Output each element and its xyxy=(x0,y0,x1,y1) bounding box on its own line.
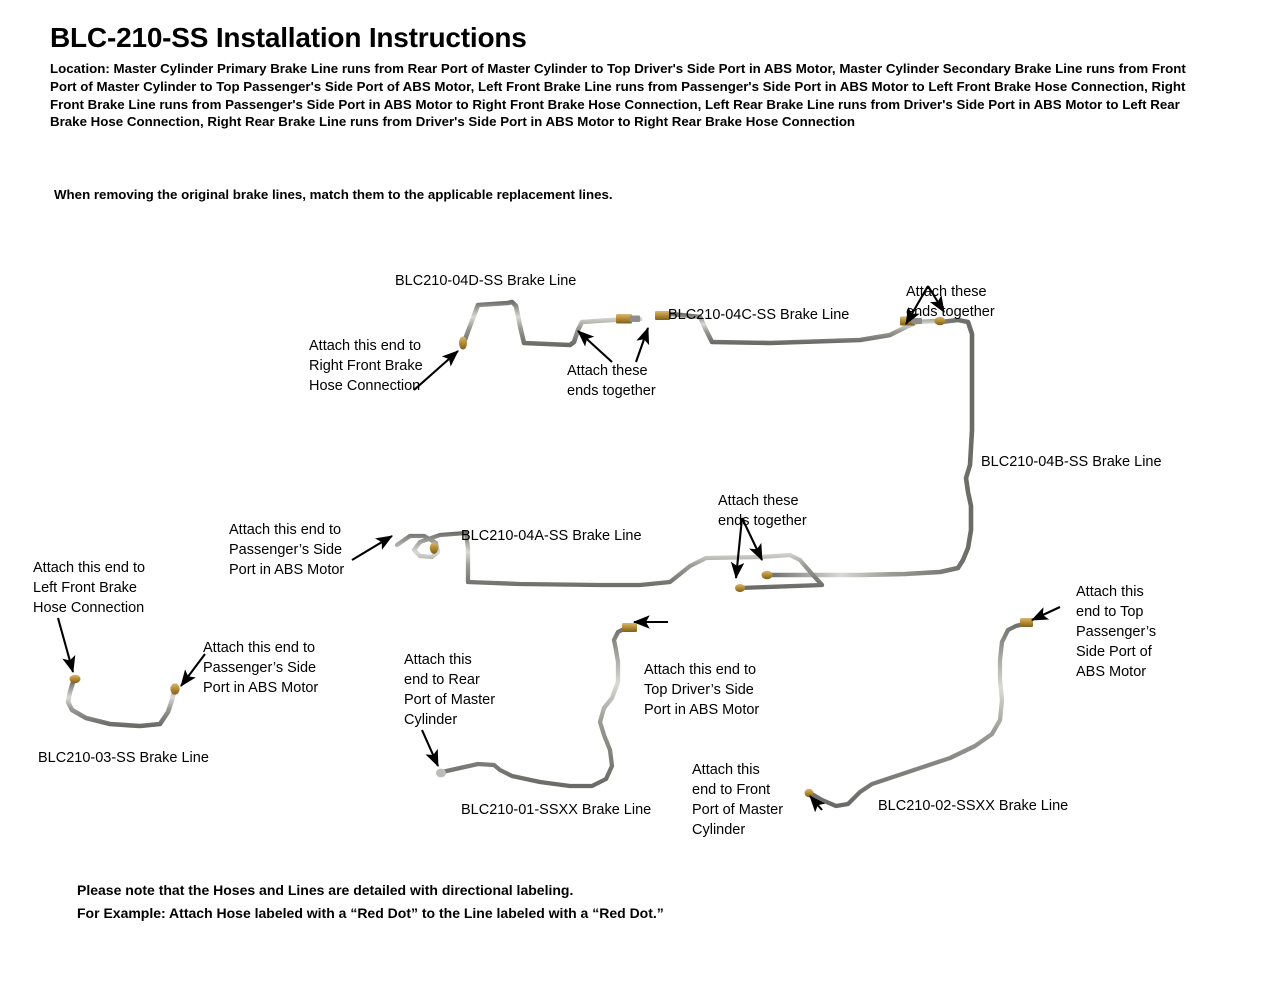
callout-rear-port-master: Attach this end to Rear Port of Master C… xyxy=(404,650,495,730)
fitting-brass xyxy=(1020,618,1033,627)
arrow-ends-top-b xyxy=(636,328,648,362)
fitting-brass xyxy=(459,337,467,350)
brake-line-04b-shape xyxy=(762,317,973,580)
callout-arrows xyxy=(58,286,1060,810)
fitting-brass xyxy=(170,683,179,694)
brake-line-03-shape xyxy=(68,675,180,726)
arrow-top-passenger-port xyxy=(1032,607,1060,620)
part-label-02: BLC210-02-SSXX Brake Line xyxy=(878,796,1068,816)
arrow-passenger-port-04a xyxy=(352,536,392,560)
fitting-brass xyxy=(430,542,438,554)
brake-line-drawing xyxy=(0,230,1280,870)
footer-line-1: Please note that the Hoses and Lines are… xyxy=(77,879,664,902)
callout-front-port-master: Attach this end to Front Port of Master … xyxy=(692,760,783,840)
fitting-brass xyxy=(616,314,632,324)
part-label-04b: BLC210-04B-SS Brake Line xyxy=(981,452,1162,472)
brake-line-04d-shape xyxy=(459,302,640,350)
arrow-rear-port-master xyxy=(422,730,438,766)
location-paragraph: Location: Master Cylinder Primary Brake … xyxy=(50,60,1210,131)
part-label-01: BLC210-01-SSXX Brake Line xyxy=(461,800,651,820)
part-label-04c: BLC210-04C-SS Brake Line xyxy=(668,305,849,325)
callout-passenger-side-port-04a: Attach this end to Passenger’s Side Port… xyxy=(229,520,344,580)
removal-note: When removing the original brake lines, … xyxy=(54,186,613,204)
callout-ends-together-top-mid: Attach these ends together xyxy=(567,361,656,401)
page-title: BLC-210-SS Installation Instructions xyxy=(50,22,1230,54)
part-label-04d: BLC210-04D-SS Brake Line xyxy=(395,271,576,291)
fitting-silver xyxy=(436,769,446,778)
fitting-brass xyxy=(735,584,745,592)
arrow-ends-top-a xyxy=(578,331,612,362)
arrow-passenger-port-03 xyxy=(181,654,205,686)
brake-line-diagram: BLC210-04D-SS Brake Line BLC210-04C-SS B… xyxy=(0,230,1280,870)
part-label-03: BLC210-03-SS Brake Line xyxy=(38,748,209,768)
part-label-04a: BLC210-04A-SS Brake Line xyxy=(461,526,642,546)
callout-top-drivers-side-port: Attach this end to Top Driver’s Side Por… xyxy=(644,660,759,720)
callout-ends-together-top-right: Attach these ends together xyxy=(906,282,995,322)
callout-left-front-hose: Attach this end to Left Front Brake Hose… xyxy=(33,558,145,618)
brake-line-02-shape xyxy=(805,618,1033,806)
footer-block: Please note that the Hoses and Lines are… xyxy=(77,879,664,924)
header-block: BLC-210-SS Installation Instructions Loc… xyxy=(50,22,1230,131)
document-page: BLC-210-SS Installation Instructions Loc… xyxy=(0,0,1280,989)
fitting-brass xyxy=(805,789,814,797)
footer-line-2: For Example: Attach Hose labeled with a … xyxy=(77,902,664,925)
callout-passenger-side-port-03: Attach this end to Passenger’s Side Port… xyxy=(203,638,318,698)
fitting-brass xyxy=(762,571,773,580)
callout-ends-together-mid: Attach these ends together xyxy=(718,491,807,531)
callout-top-passenger-side-port: Attach this end to Top Passenger’s Side … xyxy=(1076,582,1156,682)
fitting-brass xyxy=(70,675,81,683)
arrow-left-front-hose xyxy=(58,618,73,672)
callout-right-front-hose: Attach this end to Right Front Brake Hos… xyxy=(309,336,423,396)
fitting-brass xyxy=(622,623,637,632)
